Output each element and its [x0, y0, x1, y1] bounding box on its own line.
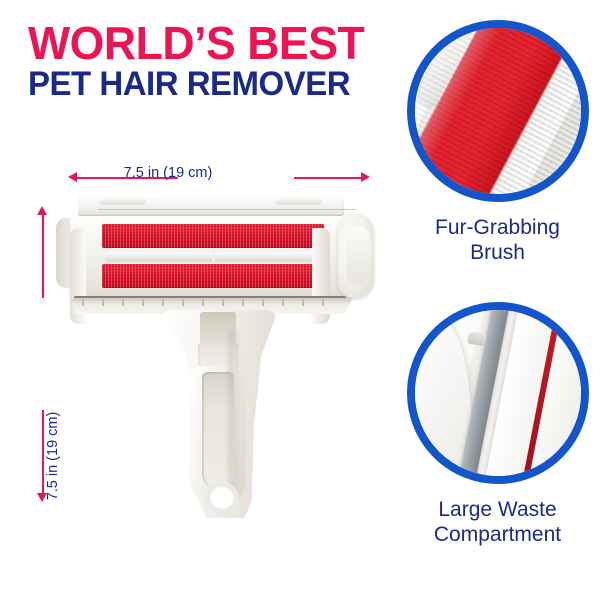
feature-2-circle	[407, 302, 589, 484]
handle-shadow	[228, 330, 242, 500]
feature-1-circle	[407, 20, 589, 202]
roller-lid	[78, 194, 344, 216]
roller-end-knob-inner	[346, 226, 370, 284]
feature-large-waste-compartment: Large Waste Compartment	[400, 302, 595, 548]
feature-1-caption: Fur-Grabbing Brush	[400, 216, 595, 266]
roller-head	[62, 192, 374, 322]
brush-strip-top	[102, 224, 324, 248]
brush-closeup-photo	[407, 20, 589, 202]
lid-tab-right	[276, 198, 322, 205]
center-band-split	[212, 252, 215, 262]
width-arrow-right-icon	[361, 172, 370, 182]
product-image	[60, 192, 380, 518]
height-dimension-label: 7.5 in (19 cm)	[45, 400, 61, 512]
roller-end-knob	[338, 214, 374, 298]
width-arrow-left-icon	[68, 172, 77, 182]
feature-1-caption-line-2: Brush	[400, 241, 595, 266]
lid-tab-left	[100, 198, 146, 205]
headline-line-2: PET HAIR REMOVER	[28, 69, 377, 101]
height-arrow-up-icon	[37, 206, 47, 215]
comb-teeth	[82, 299, 338, 306]
drum-center-band	[104, 252, 322, 262]
width-dimension-label: 7.5 in (19 cm)	[110, 165, 226, 181]
roller-handle	[158, 310, 278, 518]
height-dimension-guide: 7.5 in (19 cm)	[41, 206, 44, 502]
headline-block: WORLD’S BEST PET HAIR REMOVER	[28, 22, 388, 101]
feature-2-caption: Large Waste Compartment	[400, 498, 595, 548]
height-label-cutout	[29, 298, 55, 410]
roller-drum	[70, 210, 352, 306]
feature-2-caption-line-2: Compartment	[400, 523, 595, 548]
compartment-clip	[467, 332, 487, 347]
handle-hang-hole	[205, 482, 239, 514]
brush-strip-bottom	[102, 264, 324, 288]
headline-line-1: WORLD’S BEST	[28, 22, 377, 65]
infographic-canvas: WORLD’S BEST PET HAIR REMOVER 7.5 in (19…	[0, 0, 600, 600]
feature-fur-grabbing-brush: Fur-Grabbing Brush	[400, 20, 595, 266]
lid-seam	[98, 209, 356, 210]
feature-2-caption-line-1: Large Waste	[400, 498, 595, 523]
feature-1-caption-line-1: Fur-Grabbing	[400, 216, 595, 241]
waste-compartment-closeup-photo	[407, 302, 589, 484]
